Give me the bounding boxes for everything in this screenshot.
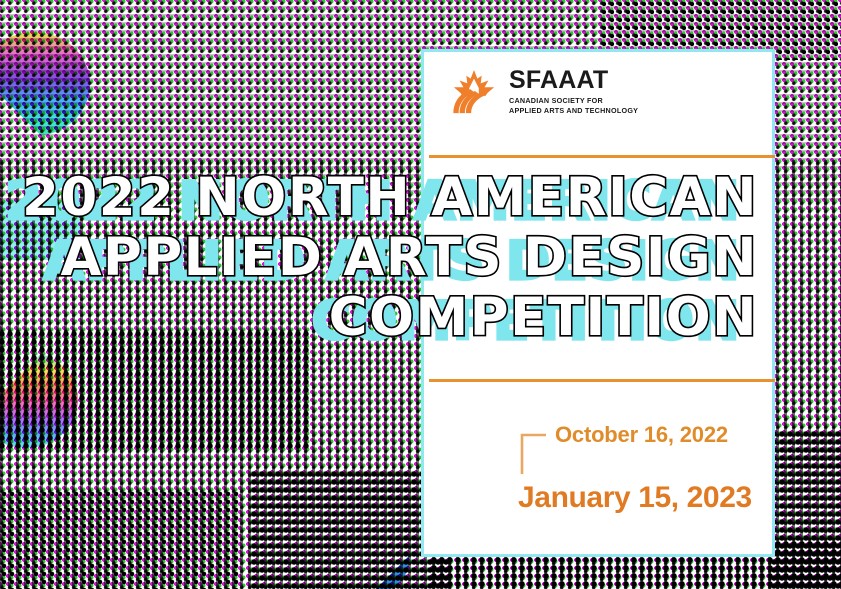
start-date-text: October 16, 2022 (555, 424, 728, 446)
organization-logo: SFAAAT CANADIAN SOCIETY FOR APPLIED ARTS… (450, 68, 638, 116)
dark-halftone-block-e (770, 430, 841, 589)
logo-subtitle-line-2: APPLIED ARTS AND TECHNOLOGY (509, 106, 638, 116)
event-dates: October 16, 2022 January 15, 2023 (520, 424, 770, 513)
start-date-row: October 16, 2022 (520, 424, 770, 476)
dark-halftone-block-c (0, 490, 240, 589)
corner-bracket-icon (520, 432, 546, 476)
content-panel: SFAAAT CANADIAN SOCIETY FOR APPLIED ARTS… (421, 49, 775, 557)
bottom-divider (429, 379, 775, 382)
logo-wordmark: SFAAAT CANADIAN SOCIETY FOR APPLIED ARTS… (509, 68, 638, 116)
top-divider (429, 155, 775, 158)
logo-subtitle-line-1: CANADIAN SOCIETY FOR (509, 96, 638, 106)
dark-halftone-block-a (0, 330, 310, 450)
maple-leaf-icon (450, 69, 498, 115)
dark-halftone-block-b (250, 470, 450, 589)
end-date-text: January 15, 2023 (518, 483, 770, 513)
logo-title: SFAAAT (509, 68, 638, 93)
poster-canvas: SFAAAT CANADIAN SOCIETY FOR APPLIED ARTS… (0, 0, 841, 589)
